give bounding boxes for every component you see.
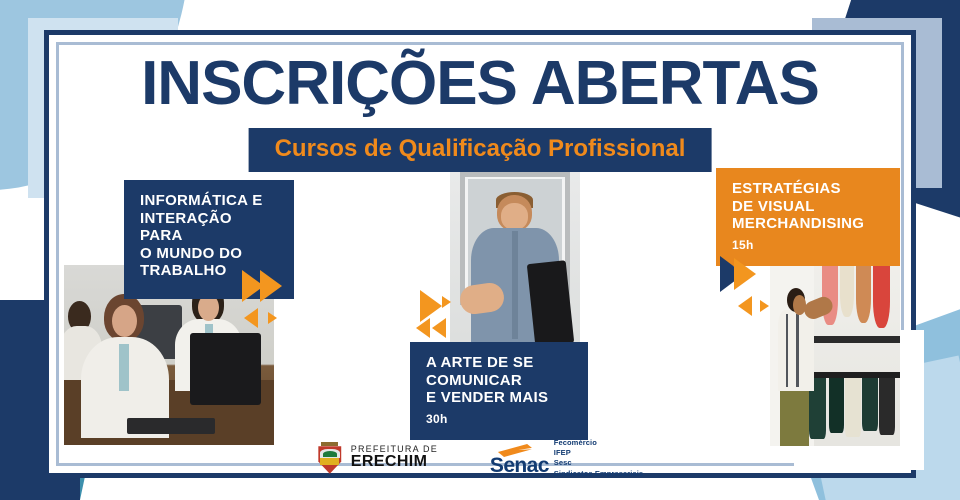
chevron-right-small-icon [442, 296, 451, 308]
subtitle-banner: Cursos de Qualificação Profissional [249, 128, 712, 172]
course-hours-comunicar: 30h [426, 412, 572, 426]
chevron-right-icon [420, 290, 442, 322]
partner-logos: PREFEITURA DE ERECHIM Senac Fecomércio I… [0, 438, 960, 479]
course-title-comunicar: A ARTE DE SE COMUNICAR E VENDER MAIS [426, 354, 572, 407]
chevron-decor-card-3 [720, 256, 790, 316]
page-title: INSCRIÇÕES ABERTAS [0, 48, 960, 119]
course-card-informatica[interactable]: INFORMÁTICA E INTERAÇÃO PARA O MUNDO DO … [64, 180, 294, 445]
senac-line-4: Sindicatos Empresariais [554, 469, 643, 478]
course-label-merchandising: ESTRATÉGIAS DE VISUAL MERCHANDISING 15h [716, 168, 900, 266]
course-hours-merchandising: 15h [732, 238, 884, 252]
senac-line-2: IFEP [554, 448, 643, 457]
prefeitura-line-2: ERECHIM [351, 454, 438, 470]
chevron-left-icon [738, 296, 752, 316]
coat-of-arms-icon [317, 442, 343, 474]
chevron-decor-card-2 [416, 290, 476, 350]
senac-partner-lines: Fecomércio IFEP Sesc Sindicatos Empresar… [554, 438, 643, 479]
senac-line-3: Sesc [554, 458, 643, 467]
chevron-right-small-icon [268, 312, 277, 324]
chevron-left-icon [244, 308, 258, 328]
course-title-informatica: INFORMÁTICA E INTERAÇÃO PARA O MUNDO DO … [140, 192, 278, 280]
senac-line-1: Fecomércio [554, 438, 643, 447]
course-card-comunicar[interactable]: A ARTE DE SE COMUNICAR E VENDER MAIS 30h [400, 172, 600, 437]
chevron-right-small-icon [760, 300, 769, 312]
logo-senac: Senac Fecomércio IFEP Sesc Sindicatos Em… [490, 438, 643, 479]
senac-wordmark: Senac [490, 454, 549, 477]
chevron-decor-card-1 [242, 270, 302, 330]
course-label-comunicar: A ARTE DE SE COMUNICAR E VENDER MAIS 30h [410, 342, 588, 440]
chevron-right-icon-2 [260, 270, 282, 302]
logo-prefeitura-erechim: PREFEITURA DE ERECHIM [317, 442, 438, 474]
course-title-merchandising: ESTRATÉGIAS DE VISUAL MERCHANDISING [732, 180, 884, 233]
chevron-right-icon [734, 258, 756, 290]
subtitle-text: Cursos de Qualificação Profissional [275, 135, 686, 162]
promotional-banner: INSCRIÇÕES ABERTAS Cursos de Qualificaçã… [0, 0, 960, 500]
course-card-merchandising[interactable]: ESTRATÉGIAS DE VISUAL MERCHANDISING 15h [700, 168, 900, 446]
